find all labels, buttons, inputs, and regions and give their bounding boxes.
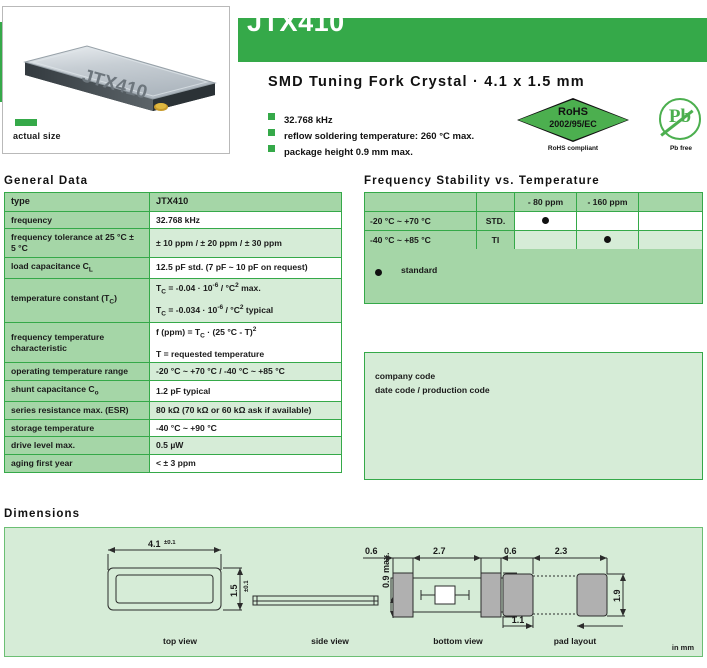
- pb-free-caption: Pb free: [655, 145, 707, 152]
- bottom-view-middle-label: 2.7: [433, 546, 446, 556]
- row-key: frequency: [5, 211, 150, 229]
- grade: TI: [477, 231, 515, 250]
- row-key: aging first year: [5, 455, 150, 473]
- table-row: load capacitance CL 12.5 pF std. (7 pF ~…: [5, 257, 342, 278]
- table-row: frequency tolerance at 25 °C ± 5 °C ± 10…: [5, 229, 342, 257]
- mark-cell: [577, 212, 639, 231]
- top-view-width-label: 4.1: [148, 540, 161, 549]
- bullet-text: package height 0.9 mm max.: [284, 147, 413, 158]
- column-header-blank: [365, 193, 477, 212]
- table-row: storage temperature -40 °C ~ +90 °C: [5, 419, 342, 437]
- rohs-title: RoHS: [517, 106, 629, 118]
- mark-cell: [577, 231, 639, 250]
- pb-symbol: Pb: [659, 106, 701, 128]
- mark-cell: [639, 212, 703, 231]
- filled-dot-icon: [542, 217, 549, 224]
- table-row: operating temperature range -20 °C ~ +70…: [5, 363, 342, 381]
- feature-bullet-list: 32.768 kHz reflow soldering temperature:…: [268, 110, 474, 158]
- row-key: type: [5, 193, 150, 212]
- row-key: storage temperature: [5, 419, 150, 437]
- table-row: shunt capacitance Co 1.2 pF typical: [5, 381, 342, 402]
- bullet-square-icon: [268, 145, 275, 152]
- column-header-blank2: [477, 193, 515, 212]
- mark-cell: [515, 231, 577, 250]
- general-data-heading: General Data: [4, 175, 88, 187]
- row-value: 12.5 pF std. (7 pF ~ 10 pF on request): [150, 257, 342, 278]
- top-view-width-tol: ±0.1: [164, 540, 176, 546]
- row-value: < ± 3 ppm: [150, 455, 342, 473]
- row-key: drive level max.: [5, 437, 150, 455]
- pb-free-logo: Pb Pb free: [655, 98, 707, 158]
- frequency-stability-legend: standard: [364, 249, 703, 304]
- page-title: Quartz Crystal · JTX410: [30, 7, 345, 38]
- table-row: frequency 32.768 kHz: [5, 211, 342, 229]
- frequency-stability-table: - 80 ppm - 160 ppm -20 °C ~ +70 °C STD. …: [364, 192, 703, 250]
- table-row: type JTX410: [5, 193, 342, 212]
- actual-size-label: actual size: [13, 131, 61, 141]
- list-item: reflow soldering temperature: 260 °C max…: [268, 126, 474, 140]
- list-item: package height 0.9 mm max.: [268, 142, 474, 156]
- pad-layout-pad-width-label: 1.1: [512, 615, 525, 625]
- grade: STD.: [477, 212, 515, 231]
- rohs-directive: 2002/95/EC: [517, 119, 629, 129]
- bullet-square-icon: [268, 129, 275, 136]
- frequency-stability-heading: Frequency Stability vs. Temperature: [364, 175, 600, 187]
- dimensions-box: 4.1 ±0.1 1.5 ±0.1 top view 0.9 max. side…: [4, 527, 703, 657]
- rohs-logo: RoHS 2002/95/EC RoHS compliant: [517, 98, 629, 158]
- column-header-80ppm: - 80 ppm: [515, 193, 577, 212]
- pad-layout-height-label: 1.9: [612, 589, 622, 602]
- company-code-label: company code: [375, 371, 435, 381]
- marking-code-box: company code date code / production code: [364, 352, 703, 480]
- table-row: frequency temperature characteristic f (…: [5, 322, 342, 362]
- dimensions-heading: Dimensions: [4, 508, 80, 520]
- row-value: 32.768 kHz: [150, 211, 342, 229]
- row-value: 80 kΩ (70 kΩ or 60 kΩ ask if available): [150, 401, 342, 419]
- page-subtitle: SMD Tuning Fork Crystal · 4.1 x 1.5 mm: [268, 74, 585, 90]
- row-key: series resistance max. (ESR): [5, 401, 150, 419]
- row-value: 0.5 µW: [150, 437, 342, 455]
- table-row: series resistance max. (ESR) 80 kΩ (70 k…: [5, 401, 342, 419]
- rohs-caption: RoHS compliant: [517, 145, 629, 152]
- row-key: shunt capacitance Co: [5, 381, 150, 402]
- actual-size-bar: [15, 119, 37, 126]
- table-row: - 80 ppm - 160 ppm: [365, 193, 703, 212]
- row-value: -40 °C ~ +90 °C: [150, 419, 342, 437]
- filled-dot-icon: [604, 236, 611, 243]
- row-value: ± 10 ppm / ± 20 ppm / ± 30 ppm: [150, 229, 342, 257]
- temp-range: -40 °C ~ +85 °C: [365, 231, 477, 250]
- row-key: load capacitance CL: [5, 257, 150, 278]
- pad-layout-drawing: 2.3 1.9 1.1: [475, 540, 675, 630]
- temp-range: -20 °C ~ +70 °C: [365, 212, 477, 231]
- table-row: drive level max. 0.5 µW: [5, 437, 342, 455]
- date-code-label: date code / production code: [375, 385, 490, 395]
- general-data-table: type JTX410 frequency 32.768 kHz frequen…: [4, 192, 342, 473]
- table-row: -20 °C ~ +70 °C STD.: [365, 212, 703, 231]
- header-section: JTX410 actual size Quartz Crystal · JTX4…: [0, 0, 707, 168]
- column-header-empty: [639, 193, 703, 212]
- row-value: JTX410: [150, 193, 342, 212]
- bullet-text: 32.768 kHz: [284, 115, 333, 126]
- bullet-square-icon: [268, 113, 275, 120]
- mark-cell: [515, 212, 577, 231]
- row-value: 1.2 pF typical: [150, 381, 342, 402]
- row-value: -20 °C ~ +70 °C / -40 °C ~ +85 °C: [150, 363, 342, 381]
- pad-layout-caption: pad layout: [475, 636, 675, 646]
- unit-note: in mm: [672, 643, 694, 652]
- row-key: frequency tolerance at 25 °C ± 5 °C: [5, 229, 150, 257]
- row-value: f (ppm) = TC · (25 °C - T)2 T = requeste…: [150, 322, 342, 362]
- row-key: frequency temperature characteristic: [5, 322, 150, 362]
- table-row: aging first year < ± 3 ppm: [5, 455, 342, 473]
- datasheet-page: JTX410 actual size Quartz Crystal · JTX4…: [0, 0, 707, 668]
- bullet-text: reflow soldering temperature: 260 °C max…: [284, 131, 474, 142]
- bottom-view-left-pad-label: 0.6: [365, 546, 378, 556]
- table-row: -40 °C ~ +85 °C TI: [365, 231, 703, 250]
- mark-cell: [639, 231, 703, 250]
- pad-layout-gap-label: 2.3: [555, 546, 568, 556]
- row-key: temperature constant (TC): [5, 278, 150, 322]
- list-item: 32.768 kHz: [268, 110, 474, 124]
- row-value: TC = -0.04 · 10-6 / °C2 max. TC = -0.034…: [150, 278, 342, 322]
- table-row: temperature constant (TC) TC = -0.04 · 1…: [5, 278, 342, 322]
- row-key: operating temperature range: [5, 363, 150, 381]
- legend-label: standard: [401, 265, 437, 275]
- column-header-160ppm: - 160 ppm: [577, 193, 639, 212]
- legend-dot-icon: [375, 269, 382, 276]
